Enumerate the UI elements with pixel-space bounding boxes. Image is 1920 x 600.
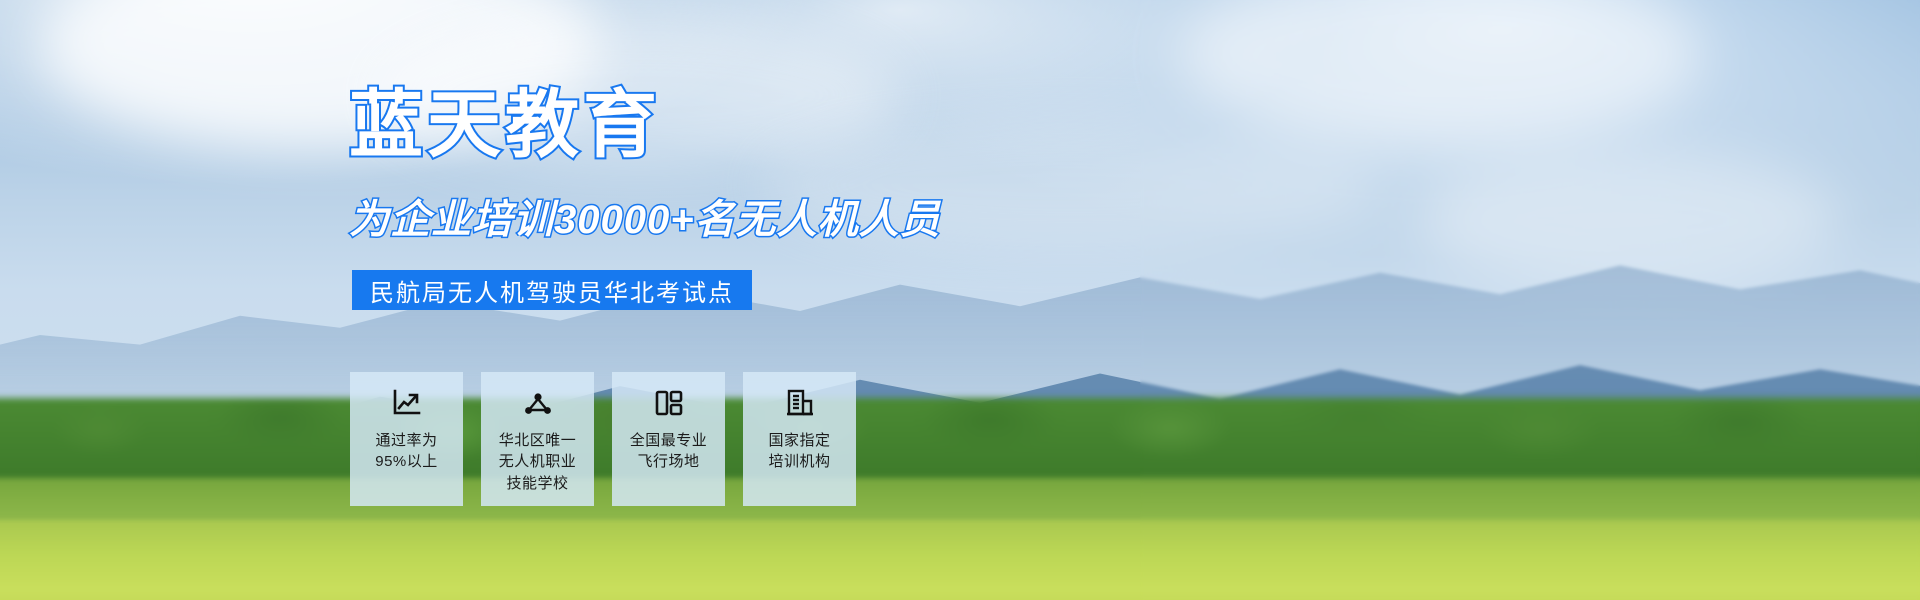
chart-line-up-icon bbox=[390, 386, 424, 420]
feature-line: 无人机职业 bbox=[499, 451, 577, 472]
feature-line: 华北区唯一 bbox=[499, 430, 577, 451]
feature-card-flight-field[interactable]: 全国最专业 飞行场地 bbox=[612, 372, 725, 506]
feature-card-text: 通过率为 95%以上 bbox=[375, 430, 438, 473]
feature-line: 通过率为 bbox=[375, 430, 438, 451]
feature-line: 技能学校 bbox=[499, 473, 577, 494]
feature-card-pass-rate[interactable]: 通过率为 95%以上 bbox=[350, 372, 463, 506]
layout-columns-icon bbox=[652, 386, 686, 420]
feature-line: 国家指定 bbox=[768, 430, 830, 451]
hero-banner: 蓝天教育 为企业培训30000+名无人机人员 民航局无人机驾驶员华北考试点 通过… bbox=[0, 0, 1920, 600]
feature-line: 培训机构 bbox=[768, 451, 830, 472]
feature-line: 全国最专业 bbox=[630, 430, 708, 451]
feature-card-national-institution[interactable]: 国家指定 培训机构 bbox=[743, 372, 856, 506]
feature-card-text: 全国最专业 飞行场地 bbox=[630, 430, 708, 473]
feature-line: 95%以上 bbox=[375, 451, 438, 472]
feature-card-text: 华北区唯一 无人机职业 技能学校 bbox=[499, 430, 577, 494]
feature-line: 飞行场地 bbox=[630, 451, 708, 472]
building-icon bbox=[783, 386, 817, 420]
feature-card-only-school[interactable]: 华北区唯一 无人机职业 技能学校 bbox=[481, 372, 594, 506]
feature-card-list: 通过率为 95%以上 华北区唯一 bbox=[350, 372, 856, 506]
banner-title: 蓝天教育 bbox=[349, 88, 661, 162]
certification-badge: 民航局无人机驾驶员华北考试点 bbox=[352, 270, 752, 310]
network-nodes-icon bbox=[521, 386, 555, 420]
banner-content: 蓝天教育 为企业培训30000+名无人机人员 民航局无人机驾驶员华北考试点 通过… bbox=[0, 0, 1920, 600]
feature-card-text: 国家指定 培训机构 bbox=[768, 430, 830, 473]
banner-subtitle: 为企业培训30000+名无人机人员 bbox=[349, 200, 941, 240]
